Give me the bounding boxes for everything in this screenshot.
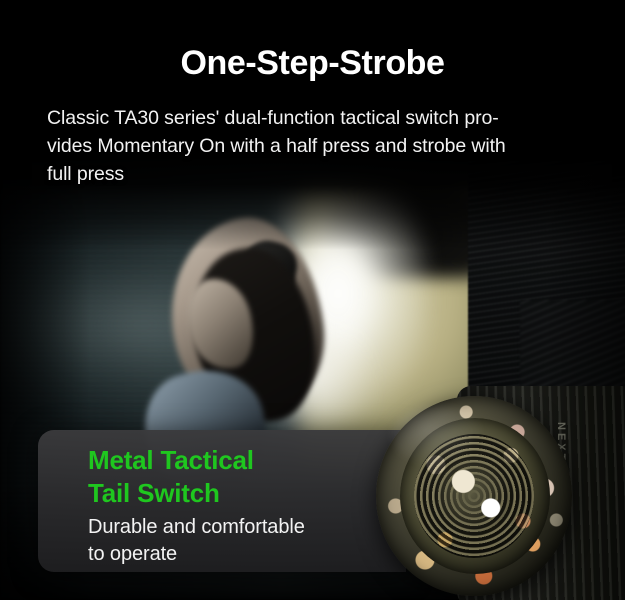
flashlight-tail-switch: NEXTORCH xyxy=(362,392,625,600)
feature-card-title: Metal Tactical Tail Switch xyxy=(88,444,388,510)
tail-switch-button xyxy=(436,458,512,536)
hero-description: Classic TA30 series' dual-function tacti… xyxy=(0,82,625,188)
feature-card-subtitle-line: to operate xyxy=(88,541,388,568)
feature-card-title-line: Tail Switch xyxy=(88,477,388,510)
hero-description-line: full press xyxy=(47,160,581,188)
hero-description-line: vides Momentary On with a half press and… xyxy=(47,132,581,160)
feature-card: Metal Tactical Tail Switch Durable and c… xyxy=(38,430,406,572)
feature-card-title-line: Metal Tactical xyxy=(88,444,388,477)
feature-card-subtitle-line: Durable and comfortable xyxy=(88,514,388,541)
product-feature-banner: One-Step-Strobe Classic TA30 series' dua… xyxy=(0,0,625,600)
hero-text-block: One-Step-Strobe Classic TA30 series' dua… xyxy=(0,0,625,188)
hero-description-line: Classic TA30 series' dual-function tacti… xyxy=(47,104,581,132)
page-title: One-Step-Strobe xyxy=(0,0,625,82)
tail-gloss-highlight xyxy=(392,406,484,466)
feature-card-subtitle: Durable and comfortable to operate xyxy=(88,514,388,568)
